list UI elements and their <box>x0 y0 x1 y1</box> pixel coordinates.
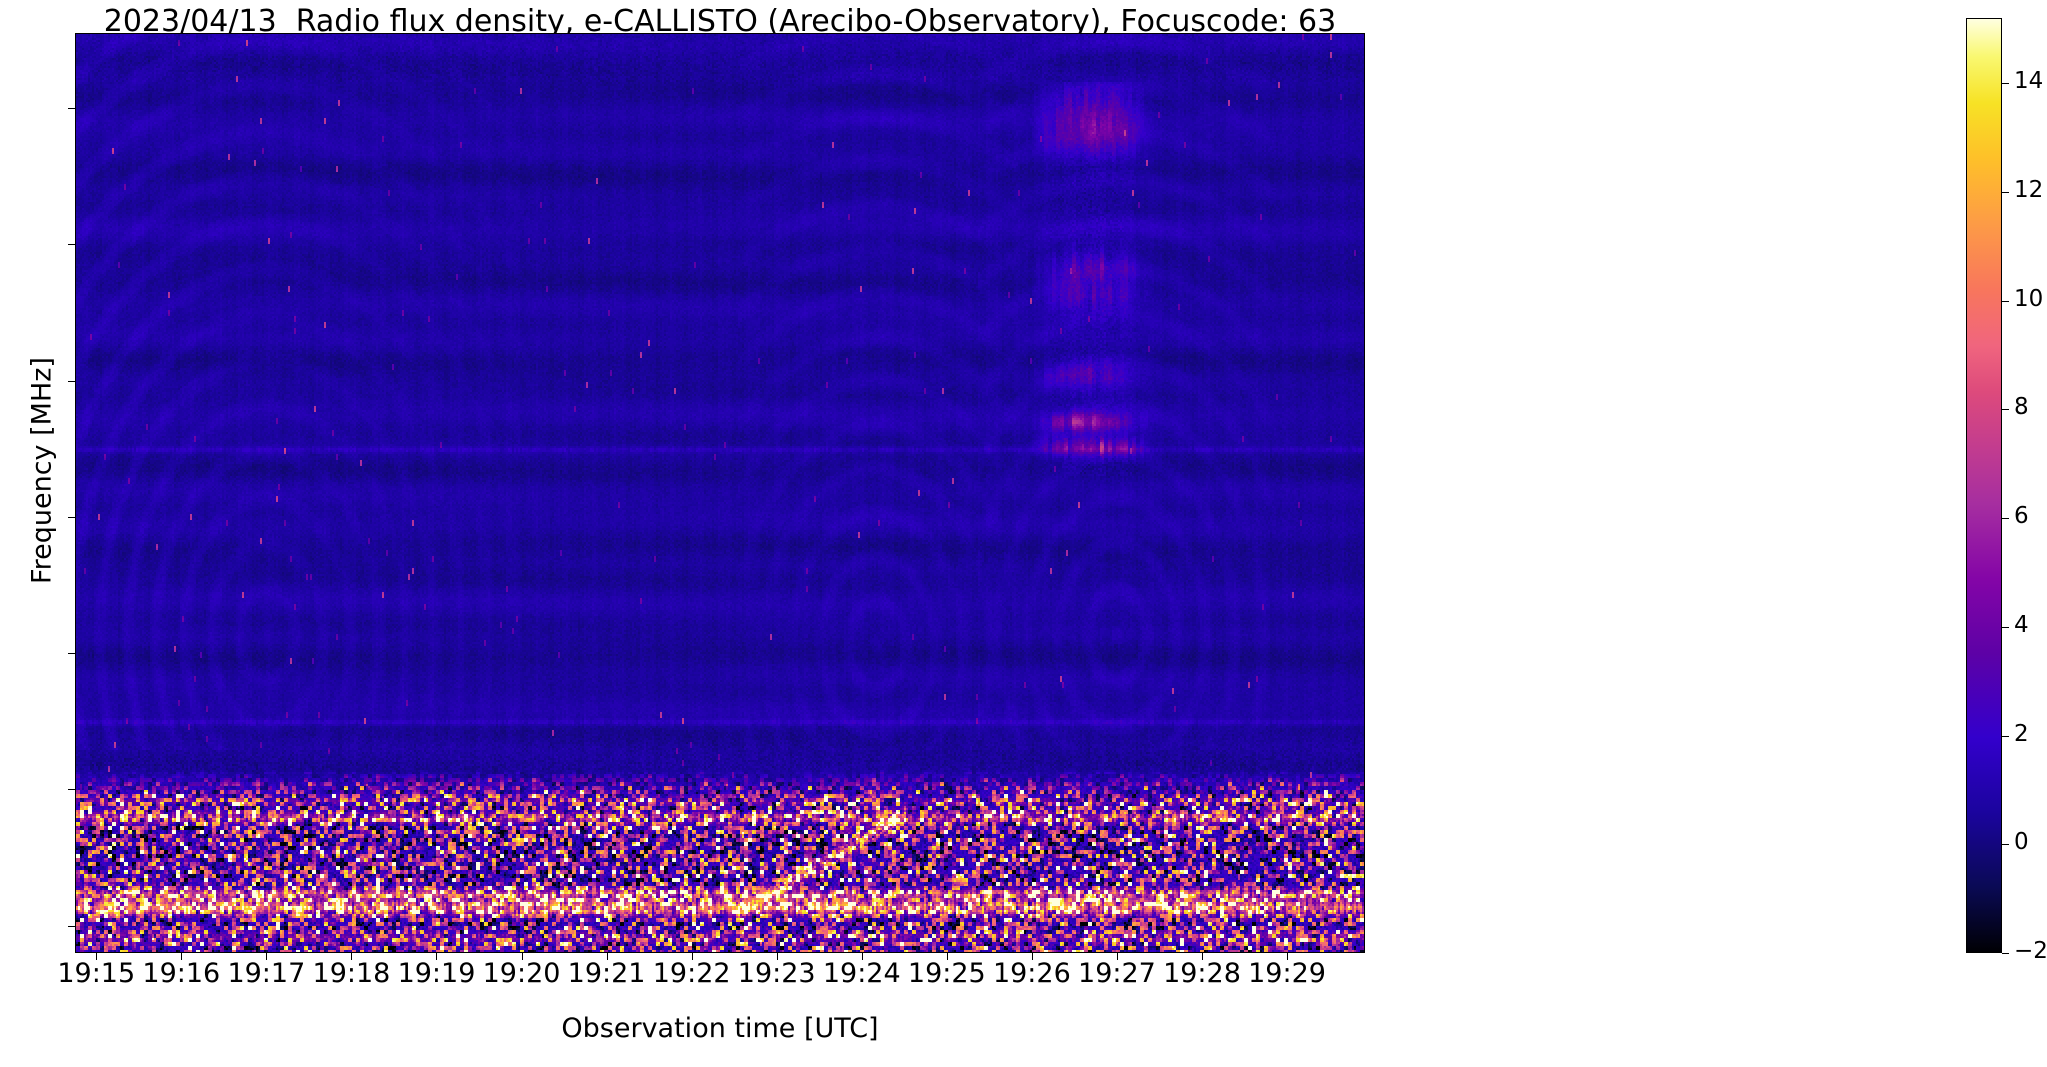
colorbar-tick-label: 14 <box>2014 68 2043 94</box>
spectrogram-image <box>76 34 1365 953</box>
y-tick-mark <box>68 653 75 654</box>
colorbar-tick-mark <box>2002 736 2009 737</box>
colorbar-tick-label: 10 <box>2014 286 2043 312</box>
colorbar-tick-label: 4 <box>2014 612 2029 638</box>
colorbar: 14121086420−2 <box>1966 18 2002 953</box>
colorbar-tick-mark <box>2002 844 2009 845</box>
y-axis-label: Frequency [MHz] <box>27 171 58 771</box>
colorbar-gradient <box>1966 18 2002 953</box>
colorbar-tick-mark <box>2002 409 2009 410</box>
y-tick-mark <box>68 517 75 518</box>
y-tick-mark <box>68 244 75 245</box>
colorbar-tick-label: 8 <box>2014 394 2029 420</box>
x-axis-label: Observation time [UTC] <box>75 1013 1365 1044</box>
colorbar-tick-label: −2 <box>2014 938 2047 964</box>
colorbar-tick-label: 12 <box>2014 177 2043 203</box>
colorbar-tick-label: 2 <box>2014 721 2029 747</box>
colorbar-tick-mark <box>2002 627 2009 628</box>
colorbar-tick-label: 6 <box>2014 503 2029 529</box>
y-tick-mark <box>68 381 75 382</box>
y-tick-mark <box>68 108 75 109</box>
colorbar-tick-mark <box>2002 301 2009 302</box>
colorbar-tick-mark <box>2002 518 2009 519</box>
x-tick-label: 19:29 <box>1207 958 1367 989</box>
y-tick-mark <box>68 789 75 790</box>
colorbar-tick-mark <box>2002 953 2009 954</box>
y-tick-mark <box>68 926 75 927</box>
spectrogram-axes <box>75 33 1365 953</box>
colorbar-tick-mark <box>2002 192 2009 193</box>
colorbar-tick-mark <box>2002 83 2009 84</box>
colorbar-tick-label: 0 <box>2014 829 2029 855</box>
